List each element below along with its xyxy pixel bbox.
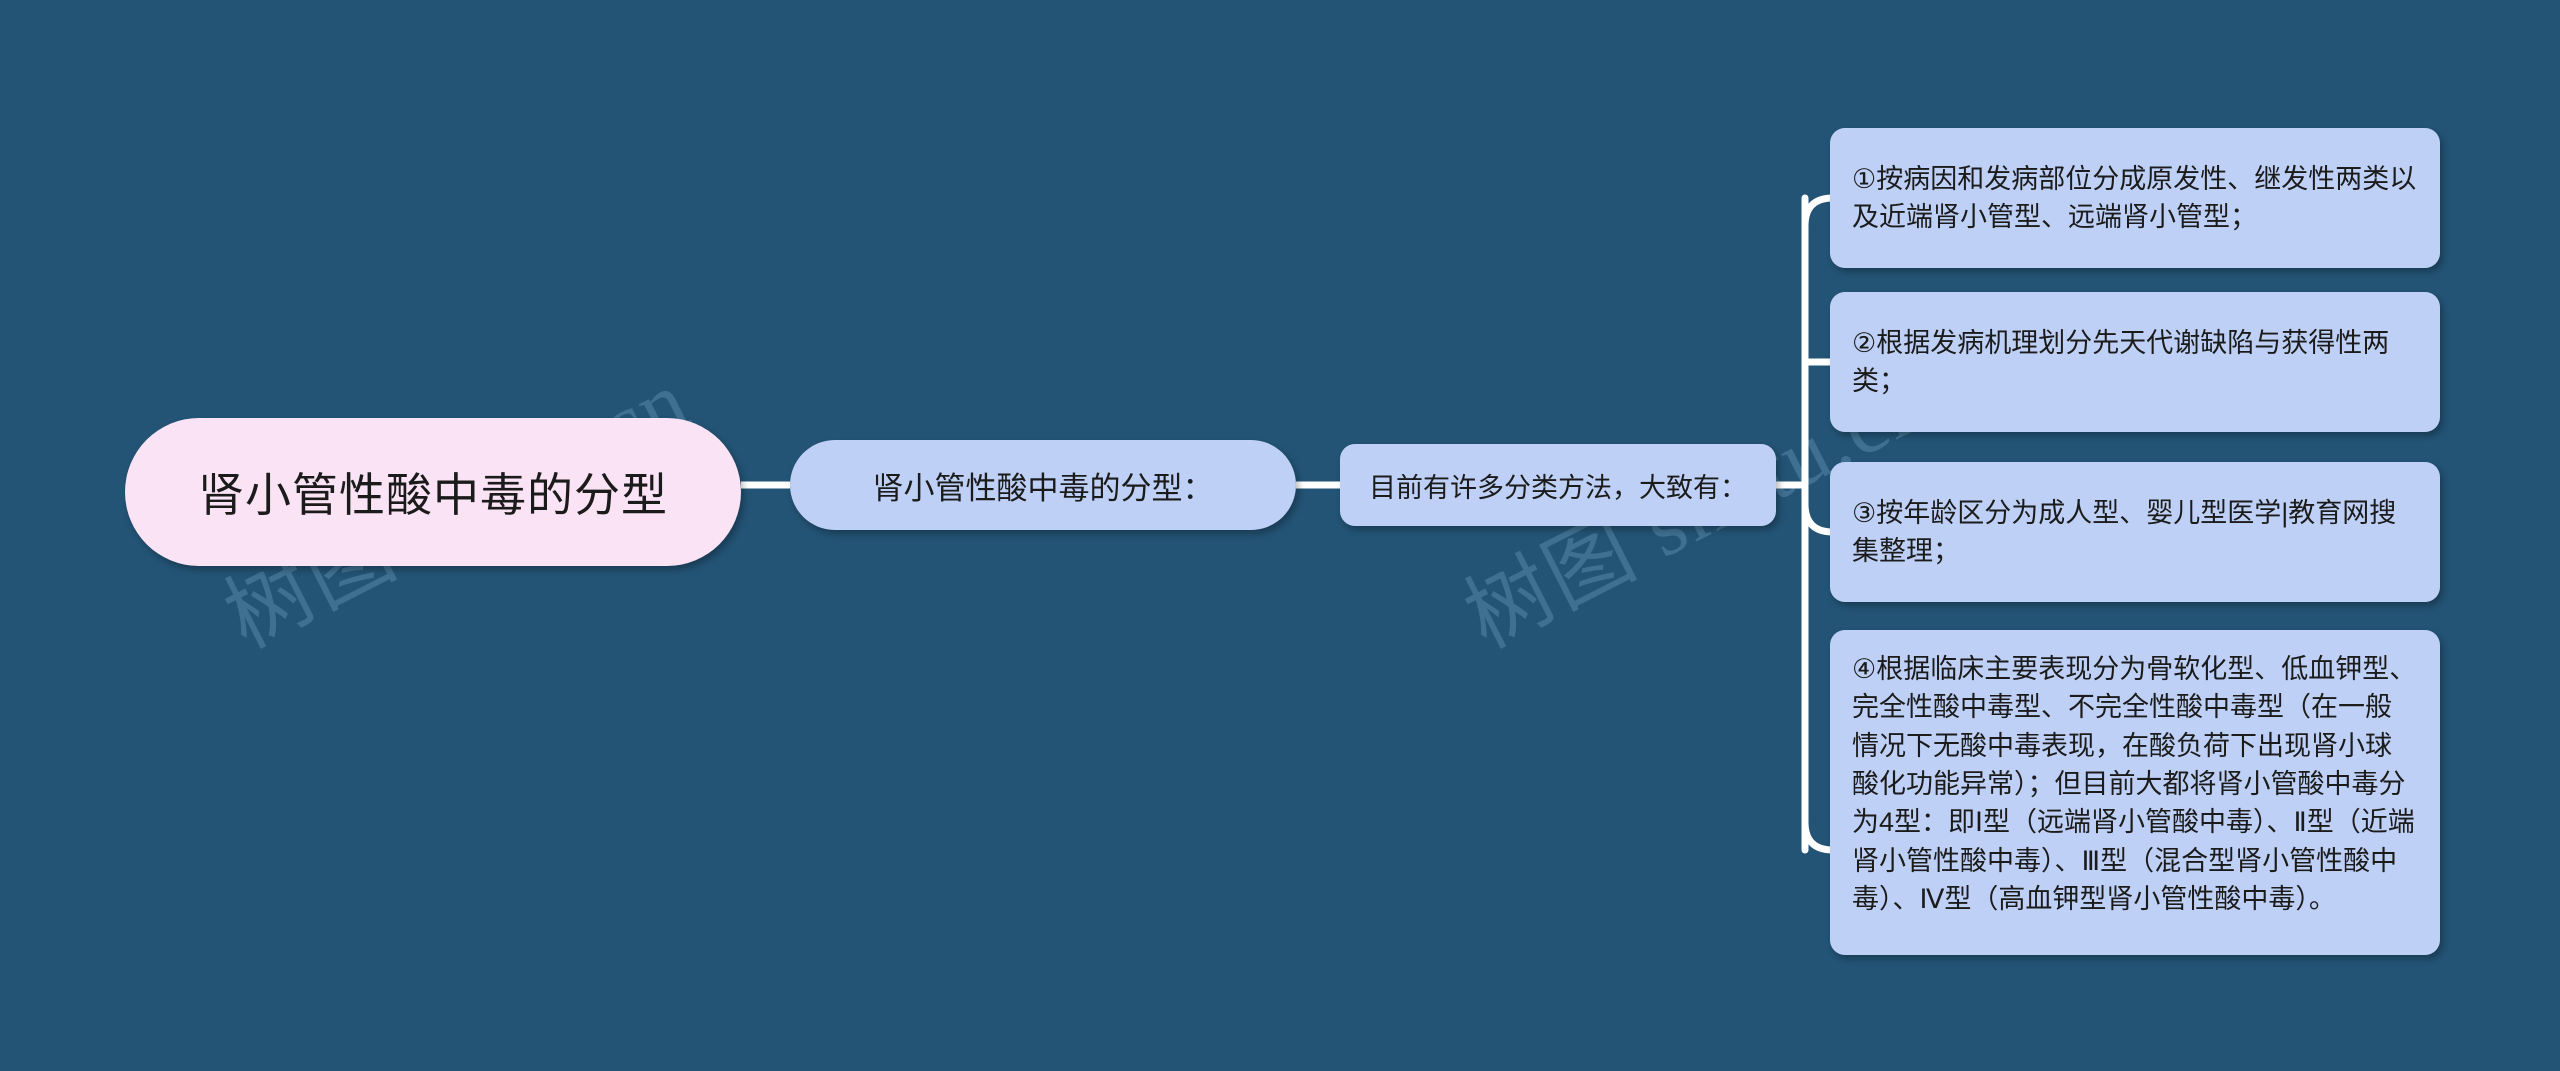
level3-node-label: 目前有许多分类方法，大致有： — [1340, 466, 1776, 505]
leaf-node-label: ②根据发病机理划分先天代谢缺陷与获得性两类； — [1852, 324, 2418, 401]
mindmap-level3-node[interactable]: 目前有许多分类方法，大致有： — [1340, 444, 1776, 526]
level2-node-label: 肾小管性酸中毒的分型： — [790, 463, 1296, 508]
mindmap-root-node[interactable]: 肾小管性酸中毒的分型 — [125, 418, 741, 566]
mindmap-leaf-node-4[interactable]: ④根据临床主要表现分为骨软化型、低血钾型、完全性酸中毒型、不完全性酸中毒型（在一… — [1830, 630, 2440, 955]
mindmap-leaf-node-1[interactable]: ①按病因和发病部位分成原发性、继发性两类以及近端肾小管型、远端肾小管型； — [1830, 128, 2440, 268]
leaf-node-label: ④根据临床主要表现分为骨软化型、低血钾型、完全性酸中毒型、不完全性酸中毒型（在一… — [1852, 650, 2418, 918]
mindmap-leaf-node-2[interactable]: ②根据发病机理划分先天代谢缺陷与获得性两类； — [1830, 292, 2440, 432]
leaf-node-label: ①按病因和发病部位分成原发性、继发性两类以及近端肾小管型、远端肾小管型； — [1852, 160, 2418, 237]
leaf-node-label: ③按年龄区分为成人型、婴儿型医学|教育网搜集整理； — [1852, 494, 2418, 571]
mindmap-level2-node[interactable]: 肾小管性酸中毒的分型： — [790, 440, 1296, 530]
mindmap-canvas: 树图 shutu.cn 树图 shutu.cn 肾小管性酸中毒的分型 肾小管性酸… — [0, 0, 2560, 1071]
root-node-label: 肾小管性酸中毒的分型 — [125, 459, 741, 525]
mindmap-leaf-node-3[interactable]: ③按年龄区分为成人型、婴儿型医学|教育网搜集整理； — [1830, 462, 2440, 602]
